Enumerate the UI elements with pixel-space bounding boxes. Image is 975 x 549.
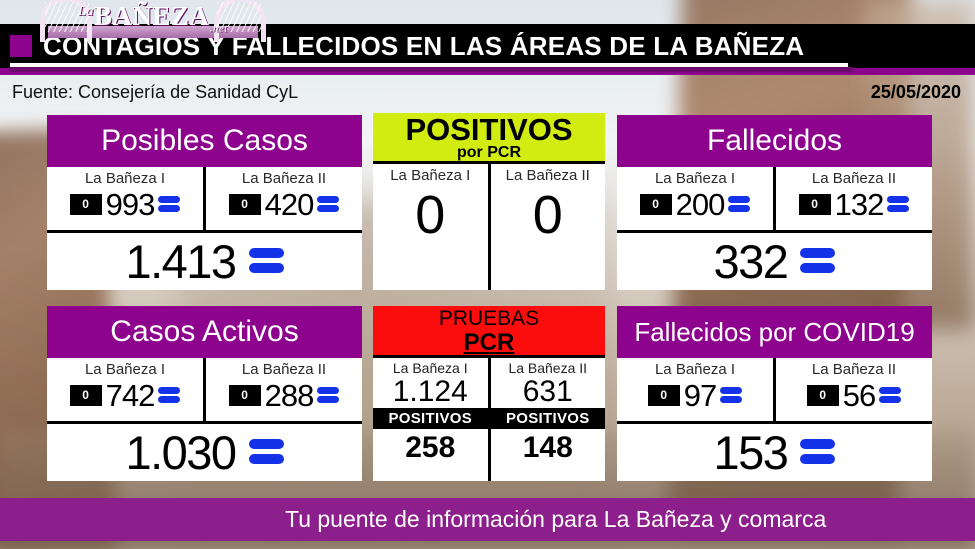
area1-label: La Bañeza I — [373, 358, 488, 376]
column-area2: La Bañeza II 0 56 — [776, 358, 932, 421]
area2-positives-label: POSITIVOS — [491, 408, 606, 429]
area1-value-row: 0 97 — [617, 378, 773, 416]
area1-label: La Bañeza I — [47, 167, 203, 187]
area2-equals-icon — [887, 196, 909, 213]
area2-value-row: 0 420 — [206, 187, 362, 225]
total-value: 153 — [714, 428, 788, 477]
area2-label: La Bañeza II — [206, 167, 362, 187]
panel-fallecidos-covid19-title: Fallecidos por COVID19 — [617, 306, 932, 358]
source-label: Fuente: Consejería de Sanidad CyL — [12, 82, 298, 103]
column-area1: La Bañeza I 0 200 — [617, 167, 776, 230]
area2-label: La Bañeza II — [491, 358, 606, 376]
area1-value-row: 0 742 — [47, 378, 203, 416]
area1-label: La Bañeza I — [617, 358, 773, 378]
column-area2: La Bañeza II 631 POSITIVOS 148 — [491, 358, 606, 481]
panel-posibles-casos-title: Posibles Casos — [47, 115, 362, 167]
area1-value-row: 0 200 — [617, 187, 773, 225]
panel-pruebas-pcr-columns: La Bañeza I 1.124 POSITIVOS 258 La Bañez… — [373, 355, 605, 481]
panel-positivos-pcr-subtitle: por PCR — [373, 145, 605, 161]
column-area2: La Bañeza II 0 420 — [206, 167, 362, 230]
panel-fallecidos-title: Fallecidos — [617, 115, 932, 167]
total-value: 332 — [714, 237, 788, 286]
total-value: 1.413 — [125, 237, 235, 286]
area2-label: La Bañeza II — [491, 164, 606, 184]
area2-value: 0 — [491, 184, 606, 246]
panel-casos-activos-title: Casos Activos — [47, 306, 362, 358]
area2-equals-icon — [317, 196, 339, 213]
area2-value-row: 0 288 — [206, 378, 362, 416]
panel-posibles-casos-columns: La Bañeza I 0 993 La Bañeza II 0 420 — [47, 167, 362, 230]
panel-positivos-pcr-columns: La Bañeza I 0 La Bañeza II 0 — [373, 161, 605, 290]
source-row: Fuente: Consejería de Sanidad CyL 25/05/… — [0, 78, 975, 110]
column-area1: La Bañeza I 0 97 — [617, 358, 776, 421]
area1-delta-badge: 0 — [640, 194, 672, 215]
total-value: 1.030 — [125, 428, 235, 477]
total-equals-icon — [800, 439, 835, 465]
panel-casos-activos-total-row: 1.030 — [47, 424, 362, 480]
area2-value-row: 0 56 — [776, 378, 932, 416]
area1-label: La Bañeza I — [617, 167, 773, 187]
area1-label: La Bañeza I — [373, 164, 488, 184]
panel-fallecidos-total-row: 332 — [617, 233, 932, 289]
panel-posibles-casos: Posibles Casos La Bañeza I 0 993 La Bañe… — [47, 115, 362, 290]
logo-suffix: .net — [210, 22, 228, 34]
area1-value: 97 — [684, 379, 716, 412]
area1-delta-badge: 0 — [648, 385, 680, 406]
column-area1: La Bañeza I 0 — [373, 164, 491, 290]
panel-fallecidos-covid19-columns: La Bañeza I 0 97 La Bañeza II 0 56 — [617, 358, 932, 421]
area1-positives-value: 258 — [373, 429, 488, 467]
area1-label: La Bañeza I — [47, 358, 203, 378]
column-area2: La Bañeza II 0 288 — [206, 358, 362, 421]
panel-posibles-casos-total-row: 1.413 — [47, 233, 362, 289]
area2-label: La Bañeza II — [776, 167, 932, 187]
area1-delta-badge: 0 — [70, 194, 102, 215]
area1-positives-label: POSITIVOS — [373, 408, 488, 429]
panel-pruebas-pcr-header: PRUEBAS PCR — [373, 306, 605, 355]
logo-prefix: La — [78, 4, 94, 19]
area1-value: 742 — [106, 379, 155, 412]
panel-positivos-pcr-header: POSITIVOS por PCR — [373, 113, 605, 161]
column-area1: La Bañeza I 0 993 — [47, 167, 206, 230]
area1-equals-icon — [158, 387, 180, 404]
area1-value: 1.124 — [373, 376, 488, 408]
panel-positivos-pcr: POSITIVOS por PCR La Bañeza I 0 La Bañez… — [373, 113, 605, 290]
footer-tagline: Tu puente de información para La Bañeza … — [285, 498, 826, 541]
panel-casos-activos: Casos Activos La Bañeza I 0 742 La Bañez… — [47, 306, 362, 481]
logo-name: BAÑEZA — [94, 1, 210, 31]
column-area2: La Bañeza II 0 — [491, 164, 606, 290]
panel-fallecidos: Fallecidos La Bañeza I 0 200 La Bañeza I… — [617, 115, 932, 290]
column-area1: La Bañeza I 0 742 — [47, 358, 206, 421]
area2-delta-badge: 0 — [799, 194, 831, 215]
area1-equals-icon — [728, 196, 750, 213]
site-logo[interactable]: LaBAÑEZA.net — [28, 0, 278, 48]
area1-equals-icon — [158, 196, 180, 213]
area2-equals-icon — [317, 387, 339, 404]
area2-value-row: 0 132 — [776, 187, 932, 225]
area2-positives-value: 148 — [491, 429, 606, 467]
area1-value: 0 — [373, 184, 488, 246]
total-equals-icon — [249, 248, 284, 274]
panel-pruebas-pcr: PRUEBAS PCR La Bañeza I 1.124 POSITIVOS … — [373, 306, 605, 481]
area1-value-row: 0 993 — [47, 187, 203, 225]
header-underline-purple-accent — [10, 67, 853, 72]
area1-value: 993 — [106, 188, 155, 221]
area2-delta-badge: 0 — [229, 194, 261, 215]
panel-pruebas-pcr-title: PRUEBAS — [373, 306, 605, 331]
total-equals-icon — [800, 248, 835, 274]
area2-delta-badge: 0 — [807, 385, 839, 406]
area2-label: La Bañeza II — [206, 358, 362, 378]
panel-pruebas-pcr-subtitle: PCR — [373, 331, 605, 355]
area1-delta-badge: 0 — [70, 385, 102, 406]
area1-equals-icon — [720, 387, 742, 404]
column-area1: La Bañeza I 1.124 POSITIVOS 258 — [373, 358, 491, 481]
panel-fallecidos-covid19-total-row: 153 — [617, 424, 932, 480]
area2-value: 132 — [835, 188, 884, 221]
total-equals-icon — [249, 439, 284, 465]
area1-value: 200 — [676, 188, 725, 221]
area2-label: La Bañeza II — [776, 358, 932, 378]
area2-delta-badge: 0 — [229, 385, 261, 406]
area2-value: 420 — [265, 188, 314, 221]
panel-positivos-pcr-title: POSITIVOS — [373, 114, 605, 145]
date-label: 25/05/2020 — [871, 82, 961, 103]
area2-value: 56 — [843, 379, 875, 412]
panel-fallecidos-covid19: Fallecidos por COVID19 La Bañeza I 0 97 … — [617, 306, 932, 481]
logo-text: LaBAÑEZA.net — [28, 1, 278, 34]
panel-fallecidos-columns: La Bañeza I 0 200 La Bañeza II 0 132 — [617, 167, 932, 230]
area2-value: 631 — [491, 376, 606, 408]
panel-casos-activos-columns: La Bañeza I 0 742 La Bañeza II 0 288 — [47, 358, 362, 421]
area2-equals-icon — [879, 387, 901, 404]
column-area2: La Bañeza II 0 132 — [776, 167, 932, 230]
footer-bar: Tu puente de información para La Bañeza … — [0, 498, 975, 541]
area2-value: 288 — [265, 379, 314, 412]
